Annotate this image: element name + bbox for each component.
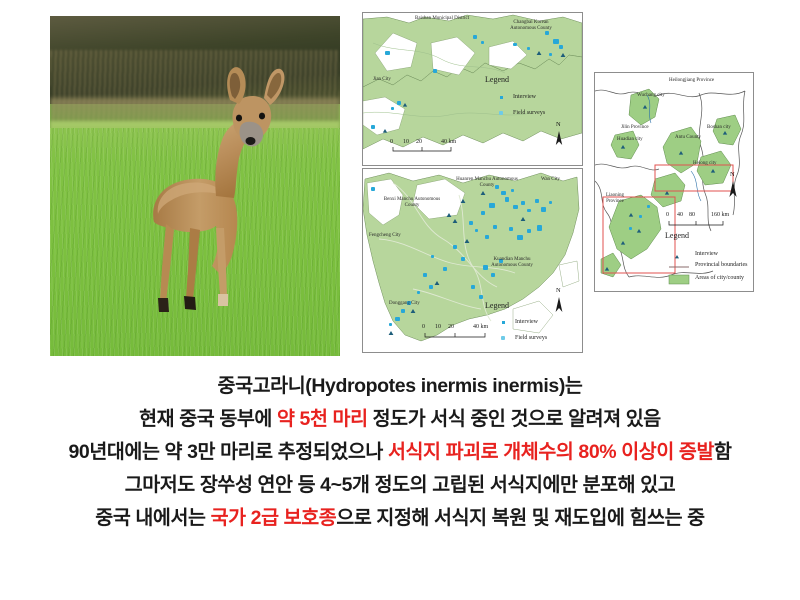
caption-block: 중국고라니(Hydropotes inermis inermis)는 현재 중국… [0, 370, 800, 570]
legend-swatch-interview-lt [500, 96, 503, 99]
map-northeast-china-overview[interactable]: Heilongjiang Province Jilin Province Lia… [594, 72, 754, 292]
scale-tick-40km-lb: 40 km [473, 324, 488, 330]
caption-highlight: 국가 2급 보호종 [211, 507, 337, 529]
deer-silhouette [50, 16, 340, 356]
map-label-antu-county: Antu County [675, 135, 701, 141]
legend-swatch-field-lt [499, 111, 503, 115]
scale-tick-0-lt: 0 [390, 139, 393, 145]
north-label-lb: N [556, 287, 561, 294]
scale-tick-0-r: 0 [666, 212, 669, 218]
map-baishan-changbai[interactable]: Baishan Municipal District Changbai Kore… [362, 12, 583, 166]
scale-tick-40km-lt: 40 km [441, 139, 456, 145]
figure-area: Baishan Municipal District Changbai Kore… [0, 0, 800, 368]
legend-swatch-interview-lb [502, 321, 505, 324]
map-label-huadian-city: Huadian city [617, 137, 643, 143]
map-label-helong-city: Helong city [693, 161, 716, 167]
map-label-donggang: Donggang City [389, 301, 420, 307]
legend-item-interview-lb: Interview [515, 319, 538, 325]
caption-seg: 중국고라니(Hydropotes inermis inermis)는 [218, 375, 583, 397]
caption-line-5: 중국 내에서는 국가 2급 보호종으로 지정해 서식지 복원 및 재도입에 힘쓰… [0, 502, 800, 535]
legend-item-field-surveys-lt: Field surveys [513, 110, 545, 116]
chinese-water-deer-photo [50, 16, 340, 356]
map-northeast-china-graphic [595, 73, 753, 291]
caption-seg: 현재 중국 동부에 [139, 408, 277, 430]
caption-line-4: 그마저도 장쑤성 연안 등 4~5개 정도의 고립된 서식지에만 분포해 있고 [0, 469, 800, 502]
legend-title-right: Legend [665, 231, 689, 240]
legend-title-left-top: Legend [485, 75, 509, 84]
legend-item-interview-r: Interview [695, 251, 718, 257]
legend-item-provincial-boundaries-r: Provincial boundaries [695, 262, 748, 268]
legend-title-left-bottom: Legend [485, 301, 509, 310]
scale-tick-160km-r: 160 km [711, 212, 729, 218]
scale-tick-20-lb: 20 [448, 324, 454, 330]
map-label-jian-city: Jian City [373, 77, 391, 83]
scale-tick-10-lt: 10 [403, 139, 409, 145]
map-label-jilin: Jilin Province [621, 125, 649, 131]
caption-line-1: 중국고라니(Hydropotes inermis inermis)는 [0, 370, 800, 403]
legend-swatch-field-lb [501, 336, 505, 340]
caption-line-3: 90년대에는 약 3만 마리로 추정되었으나 서식지 파괴로 개체수의 80% … [0, 436, 800, 469]
caption-highlight: 서식지 파괴로 개체수의 80% 이상이 증발 [388, 441, 714, 463]
north-label-lt: N [556, 121, 561, 128]
scale-tick-20-lt: 20 [416, 139, 422, 145]
map-label-liaoning: Liaoning Province [600, 193, 630, 205]
survey-maps-left: Baishan Municipal District Changbai Kore… [362, 12, 583, 353]
map-label-heilongjiang: Heilongjiang Province [669, 78, 714, 84]
north-label-r: N [730, 171, 735, 178]
caption-seg: 중국 내에서는 [95, 507, 210, 529]
scale-tick-40-r: 40 [677, 212, 683, 218]
caption-seg: 90년대에는 약 3만 마리로 추정되었으나 [68, 441, 388, 463]
scale-tick-80-r: 80 [689, 212, 695, 218]
caption-seg: 정도가 서식 중인 것으로 알려져 있음 [368, 408, 661, 430]
map-label-wan-city: Wan City [541, 177, 560, 183]
map-label-baishan: Baishan Municipal District [415, 16, 469, 22]
legend-item-areas-city-county-r: Areas of city/county [695, 275, 744, 281]
map-label-changbai: Changbai Korean Autonomous County [501, 20, 561, 32]
map-label-huanren: Huanren Manchu Autonomous County [456, 177, 518, 189]
caption-seg: 함 [714, 441, 732, 463]
map-label-fengcheng: Fengcheng City [369, 233, 401, 239]
map-benxi-kuandian[interactable]: Benxi Manchu Autonomous County Huanren M… [362, 168, 583, 353]
map-baishan-changbai-graphic [363, 13, 582, 165]
legend-item-field-surveys-lb: Field surveys [515, 335, 547, 341]
caption-line-2: 현재 중국 동부에 약 5천 마리 정도가 서식 중인 것으로 알려져 있음 [0, 403, 800, 436]
map-label-boshan-city: Boshan city [707, 125, 731, 131]
scale-tick-10-lb: 10 [435, 324, 441, 330]
caption-seg: 으로 지정해 서식지 복원 및 재도입에 힘쓰는 중 [336, 507, 704, 529]
map-label-benxi: Benxi Manchu Autonomous County [383, 197, 441, 209]
scale-tick-0-lb: 0 [422, 324, 425, 330]
caption-seg: 그마저도 장쑤성 연안 등 4~5개 정도의 고립된 서식지에만 분포해 있고 [125, 474, 676, 496]
map-label-wuchang-city: Wuchang city [637, 93, 665, 99]
map-label-kuandian: Kuandian Manchu Autonomous County [481, 257, 543, 269]
caption-highlight: 약 5천 마리 [277, 408, 368, 430]
legend-item-interview-lt: Interview [513, 94, 536, 100]
